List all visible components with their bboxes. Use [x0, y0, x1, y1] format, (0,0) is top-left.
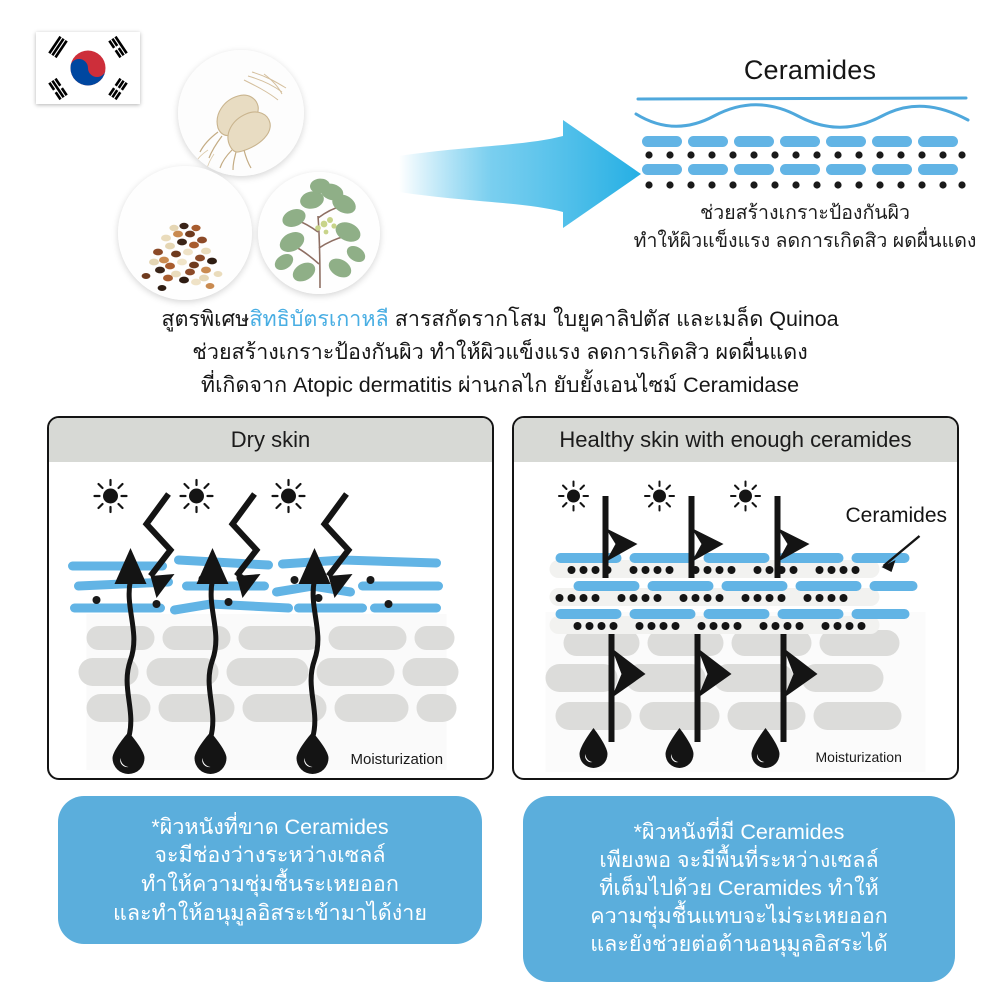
description-line-3: ที่เกิดจาก Atopic dermatitis ผ่านกลไก ยั… — [80, 369, 920, 402]
ginseng-icon — [178, 50, 304, 176]
ceramides-structure-diagram — [632, 92, 972, 196]
panel-healthy-skin-title: Healthy skin with enough ceramides — [514, 418, 957, 462]
bubble-left-line-4: และทำให้อนุมูลอิสระเข้ามาได้ง่าย — [113, 899, 427, 928]
bubble-right-line-4: ความชุ่มชื้นแทบจะไม่ระเหยออก — [590, 903, 888, 931]
bubble-right-line-2: เพียงพอ จะมีพื้นที่ระหว่างเซลล์ — [599, 847, 878, 875]
panel-dry-skin-body: Moisturization — [49, 462, 492, 778]
patent-highlight: สิทธิบัตรเกาหลี — [249, 307, 388, 331]
caption-bubble-dry-skin: *ผิวหนังที่ขาด Ceramides จะมีช่องว่างระห… — [58, 796, 482, 944]
bubble-right-line-5: และยังช่วยต่อต้านอนุมูลอิสระได้ — [590, 931, 887, 959]
quinoa-icon — [118, 166, 252, 300]
panel-dry-skin: Dry skin — [47, 416, 494, 780]
description-suffix: สารสกัดรากโสม ใบยูคาลิปตัส และเมล็ด Quin… — [389, 307, 839, 331]
bubble-right-line-3: ที่เต็มไปด้วย Ceramides ทำให้ — [599, 875, 879, 903]
caption-bubble-healthy-skin: *ผิวหนังที่มี Ceramides เพียงพอ จะมีพื้น… — [523, 796, 955, 982]
ceramides-title: Ceramides — [640, 55, 980, 86]
ceramides-caption: ช่วยสร้างเกราะป้องกันผิว ทำให้ผิวแข็งแรง… — [620, 200, 990, 255]
panel-healthy-skin: Healthy skin with enough ceramides — [512, 416, 959, 780]
description-line-1: สูตรพิเศษสิทธิบัตรเกาหลี สารสกัดรากโสม ใ… — [80, 303, 920, 336]
panel-healthy-skin-body: Ceramides Moisturization — [514, 462, 957, 778]
moisturization-label-right: Moisturization — [816, 749, 902, 765]
bubble-left-line-1: *ผิวหนังที่ขาด Ceramides — [151, 813, 388, 842]
bubble-left-line-3: ทำให้ความชุ่มชื้นระเหยออก — [141, 870, 399, 899]
ceramides-caption-line-1: ช่วยสร้างเกราะป้องกันผิว — [620, 200, 990, 228]
south-korea-flag — [36, 32, 140, 104]
product-description: สูตรพิเศษสิทธิบัตรเกาหลี สารสกัดรากโสม ใ… — [80, 303, 920, 402]
ceramides-annotation-label: Ceramides — [846, 504, 948, 527]
blue-gradient-arrow — [395, 118, 645, 230]
eucalyptus-icon — [258, 172, 380, 294]
bubble-left-line-2: จะมีช่องว่างระหว่างเซลล์ — [154, 841, 385, 870]
moisturization-label-left: Moisturization — [351, 751, 444, 768]
bubble-right-line-1: *ผิวหนังที่มี Ceramides — [634, 819, 845, 847]
panel-dry-skin-title: Dry skin — [49, 418, 492, 462]
description-prefix: สูตรพิเศษ — [161, 307, 249, 331]
description-line-2: ช่วยสร้างเกราะป้องกันผิว ทำให้ผิวแข็งแรง… — [80, 336, 920, 369]
ceramides-caption-line-2: ทำให้ผิวแข็งแรง ลดการเกิดสิว ผดผื่นแดง — [620, 228, 990, 256]
